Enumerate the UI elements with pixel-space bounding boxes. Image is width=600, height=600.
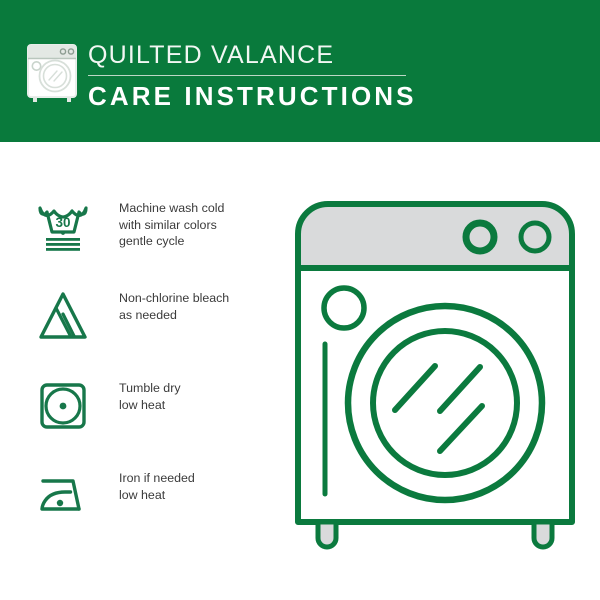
care-row: Tumble dry low heat [0, 366, 290, 456]
care-row: Iron if needed low heat [0, 456, 290, 546]
care-row: 30 Machine wash cold with similar colors… [0, 186, 290, 276]
machine-wash-30-gentle-icon: 30 [32, 194, 94, 256]
iron-low-heat-icon [32, 464, 94, 526]
care-label-line: Non-chlorine bleach [119, 290, 284, 307]
tumble-dry-low-icon [32, 374, 94, 436]
header-text-block: QUILTED VALANCE CARE INSTRUCTIONS [88, 40, 508, 112]
care-label-line: as needed [119, 307, 284, 324]
non-chlorine-bleach-icon [32, 284, 94, 346]
care-label-line: low heat [119, 397, 284, 414]
care-label-line: gentle cycle [119, 233, 284, 250]
care-label: Machine wash cold with similar colors ge… [119, 200, 284, 250]
care-label-line: with similar colors [119, 217, 284, 234]
care-label: Non-chlorine bleach as needed [119, 290, 284, 323]
page-subtitle: CARE INSTRUCTIONS [88, 80, 508, 112]
care-label: Tumble dry low heat [119, 380, 284, 413]
care-label-line: Machine wash cold [119, 200, 284, 217]
care-label: Iron if needed low heat [119, 470, 284, 503]
front-load-washing-machine-illustration [292, 198, 578, 560]
care-label-line: low heat [119, 487, 284, 504]
wash-temperature-value: 30 [55, 215, 70, 230]
page-title: QUILTED VALANCE [88, 40, 508, 70]
care-instructions-page: QUILTED VALANCE CARE INSTRUCTIONS 30 [0, 0, 600, 600]
care-label-line: Tumble dry [119, 380, 284, 397]
title-divider [88, 75, 406, 76]
care-instruction-list: 30 Machine wash cold with similar colors… [0, 186, 290, 546]
care-row: Non-chlorine bleach as needed [0, 276, 290, 366]
care-label-line: Iron if needed [119, 470, 284, 487]
washing-machine-icon [24, 42, 80, 104]
washer-indicator-circle [324, 288, 364, 328]
header-banner: QUILTED VALANCE CARE INSTRUCTIONS [0, 0, 600, 142]
